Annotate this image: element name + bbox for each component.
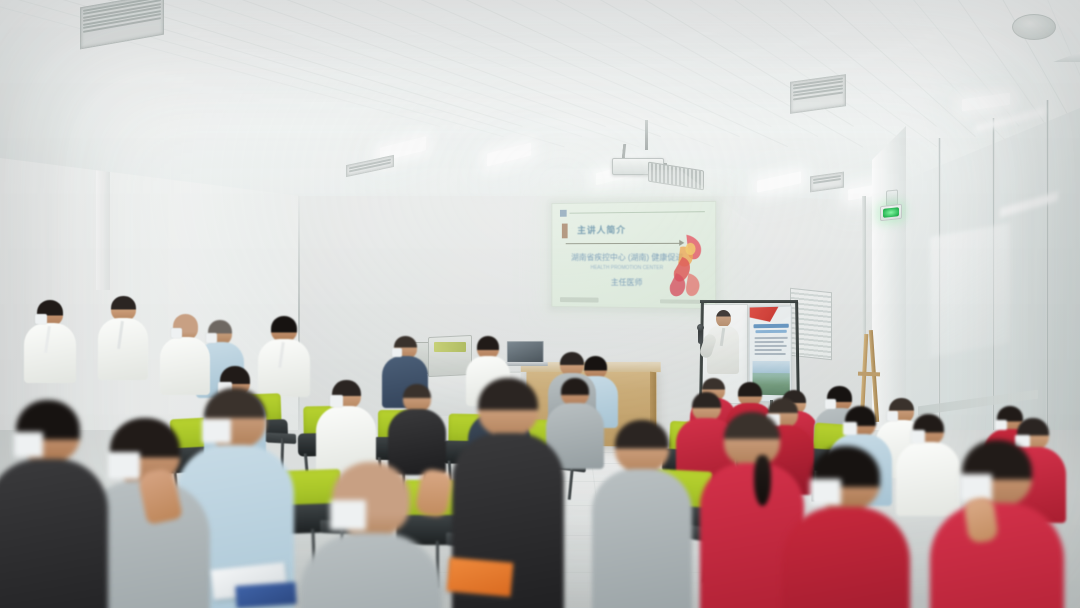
person-head <box>478 378 538 436</box>
banner-subtitle-block <box>755 330 786 333</box>
banner-frame-top <box>700 300 798 303</box>
face-mask <box>392 348 403 357</box>
presenter-head <box>716 310 731 327</box>
banner-text-line <box>754 345 786 347</box>
laptop-screen <box>507 341 544 363</box>
person-torso <box>896 442 960 516</box>
face-mask <box>35 314 47 324</box>
notebook-orange <box>447 557 514 596</box>
person-torso <box>930 503 1064 608</box>
banner-photo-sky <box>753 361 790 373</box>
person-head <box>561 378 589 406</box>
face-mask <box>108 452 140 478</box>
person-head <box>403 384 431 412</box>
slide-figure-illustration <box>656 233 709 300</box>
person-torso <box>0 459 108 608</box>
face-mask <box>911 430 925 442</box>
person-torso <box>160 337 210 395</box>
face-mask <box>995 420 1007 430</box>
person-torso <box>782 507 910 608</box>
presentation-slide: 主讲人简介 湖南省疾控中心 (湖南) 健康促进 HEALTH PROMOTION… <box>552 202 715 308</box>
face-mask <box>330 395 343 407</box>
face-mask <box>825 399 837 409</box>
face-mask <box>887 411 899 421</box>
face-mask <box>843 422 857 434</box>
banner-red-header <box>750 306 792 323</box>
notebook-blue <box>235 582 296 608</box>
slide-header <box>560 208 707 217</box>
exit-sign-glow <box>883 207 899 218</box>
easel-crossbar <box>858 372 880 377</box>
banner-text-line <box>754 349 781 351</box>
person-head <box>615 420 669 472</box>
face-mask <box>171 328 183 338</box>
face-mask <box>330 500 366 530</box>
chair-leg <box>567 466 573 500</box>
person-head <box>724 412 780 466</box>
face-mask <box>14 432 43 457</box>
laptop-keyboard-base <box>505 362 548 366</box>
banner-text-line <box>754 341 783 343</box>
face-mask <box>202 419 231 443</box>
projection-screen: 主讲人简介 湖南省疾控中心 (湖南) 健康促进 HEALTH PROMOTION… <box>551 201 716 309</box>
person-torso <box>592 469 692 608</box>
slide-logo-icon <box>560 210 567 217</box>
slide-title: 主讲人简介 <box>577 223 626 236</box>
exit-sign-icon <box>880 204 902 221</box>
ponytail <box>754 455 771 506</box>
face-mask <box>960 474 992 500</box>
slide-footer-left <box>560 297 599 302</box>
slide-title-accent <box>562 224 568 239</box>
glass-reflection <box>930 223 1010 357</box>
banner-text-line <box>754 353 785 355</box>
banner-title-block <box>754 324 789 329</box>
equipment-display-panel <box>434 342 466 352</box>
slide-header-rule <box>570 211 705 214</box>
banner-text-line <box>754 337 787 339</box>
face-mask <box>206 333 217 343</box>
person-head <box>692 392 721 421</box>
conference-room-photo: 主讲人简介 湖南省疾控中心 (湖南) 健康促进 HEALTH PROMOTION… <box>0 0 1080 608</box>
ceiling-speaker-icon <box>1012 14 1056 40</box>
person-torso <box>388 409 446 475</box>
microphone-head-icon <box>697 324 704 331</box>
face-mask <box>810 479 841 505</box>
